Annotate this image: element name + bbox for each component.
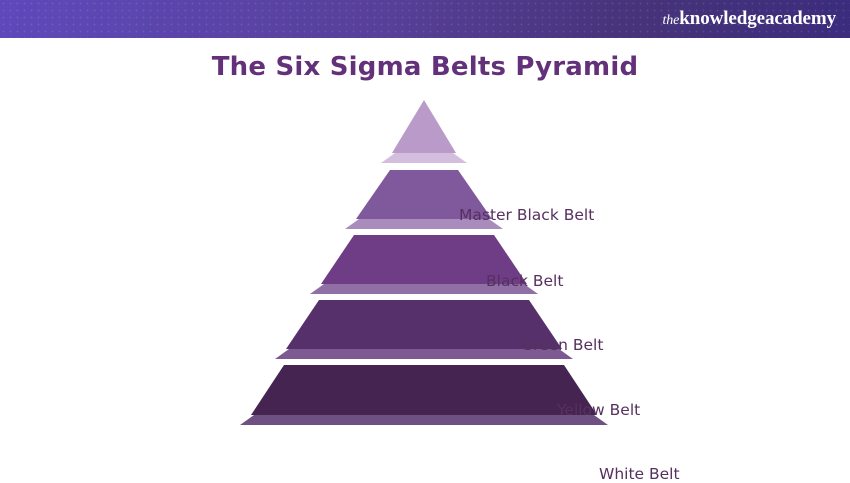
brand-logo-the: the [662, 13, 679, 28]
pyramid-tier-white-belt[interactable] [251, 365, 597, 415]
slide-canvas: theknowledgeacademy The Six Sigma Belts … [0, 0, 850, 450]
brand-logo-knowledge: knowledge [679, 8, 765, 29]
pyramid-tier-master-black-belt[interactable] [392, 100, 456, 153]
page-title: The Six Sigma Belts Pyramid [0, 52, 850, 82]
brand-logo-academy: academy [765, 8, 836, 29]
brand-logo: theknowledgeacademy [662, 9, 836, 31]
pyramid-diagram: Master Black Belt Black Belt Green Belt … [0, 92, 850, 437]
pyramid-label-black-belt: Black Belt [486, 272, 563, 290]
pyramid-label-yellow-belt: Yellow Belt [557, 401, 640, 419]
pyramid-tier-shadow-white-belt [240, 415, 608, 425]
header-bar: theknowledgeacademy [0, 0, 850, 38]
pyramid-label-green-belt: Green Belt [521, 336, 603, 354]
pyramid-graphic [0, 92, 850, 437]
pyramid-label-white-belt: White Belt [599, 465, 680, 483]
pyramid-tier-shadow-master-black-belt [381, 153, 467, 163]
pyramid-label-master-black-belt: Master Black Belt [459, 206, 594, 224]
